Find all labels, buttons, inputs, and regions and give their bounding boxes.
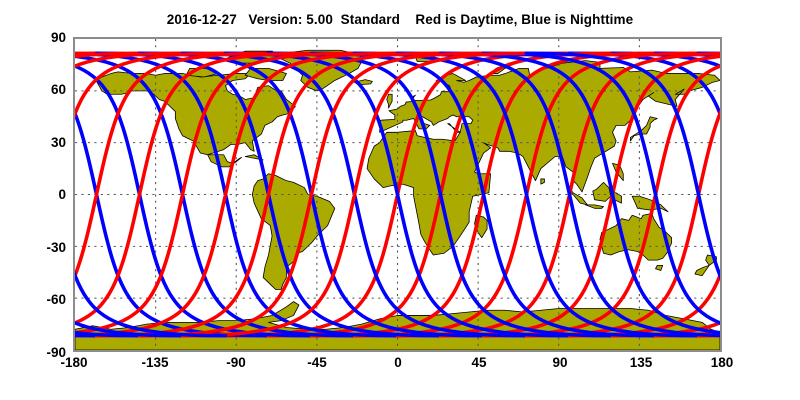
x-tick-135: 135 (611, 356, 671, 370)
x-tick-0: 0 (368, 356, 428, 370)
x-tick-m90: -90 (206, 356, 266, 370)
x-tick-m45: -45 (287, 356, 347, 370)
y-tick-m30: -30 (26, 241, 66, 255)
world-map-graphic (75, 39, 720, 350)
x-tick-m135: -135 (125, 356, 185, 370)
ground-track-figure: 2016-12-27 Version: 5.00 Standard Red is… (0, 0, 800, 400)
plot-title: 2016-12-27 Version: 5.00 Standard Red is… (0, 12, 800, 27)
y-tick-0: 0 (26, 188, 66, 202)
y-tick-90: 90 (26, 31, 66, 45)
x-axis-labels: -180 -135 -90 -45 0 45 90 135 180 (0, 356, 800, 378)
y-tick-60: 60 (26, 83, 66, 97)
x-tick-180: 180 (692, 356, 752, 370)
x-tick-m180: -180 (44, 356, 104, 370)
y-tick-30: 30 (26, 136, 66, 150)
x-tick-90: 90 (530, 356, 590, 370)
x-tick-45: 45 (449, 356, 509, 370)
y-tick-m60: -60 (26, 293, 66, 307)
y-axis-labels: 90 60 30 0 -30 -60 -90 (22, 0, 66, 400)
map-plot-area (73, 37, 722, 352)
